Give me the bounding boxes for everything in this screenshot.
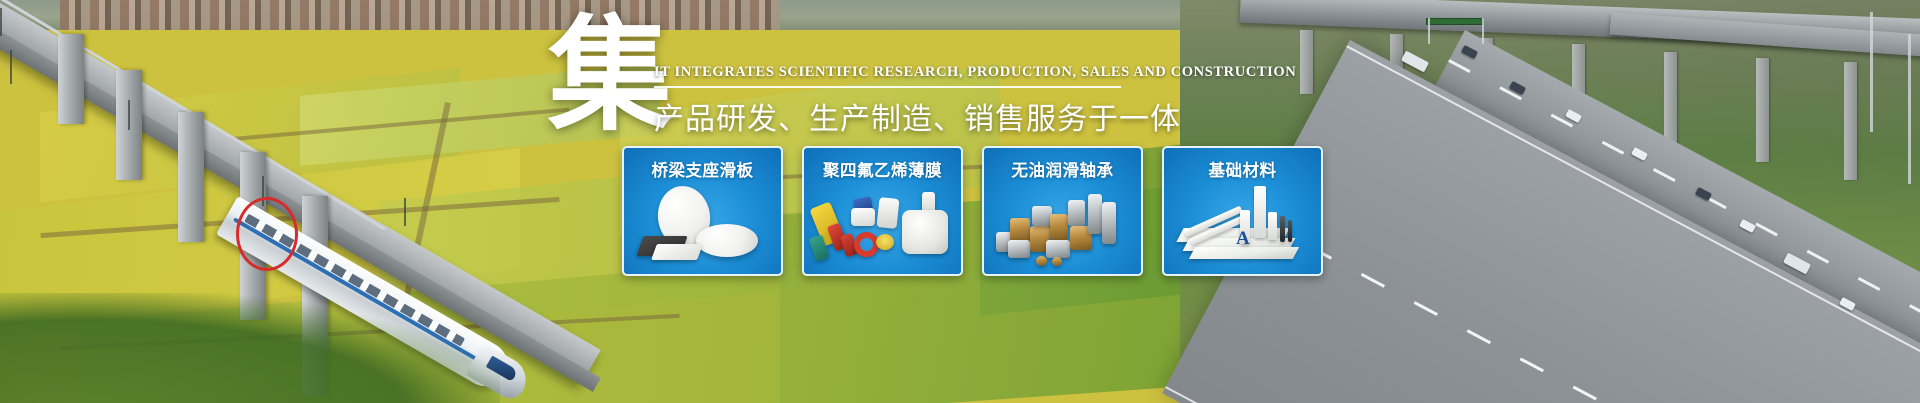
product-card-base-material[interactable]: 基础材料 A — [1162, 146, 1323, 276]
headline-block: 集 IT INTEGRATES SCIENTIFIC RESEARCH, PRO… — [548, 14, 1168, 134]
product-card-title: 桥梁支座滑板 — [624, 157, 781, 181]
product-card-row: 桥梁支座滑板 聚四氟乙烯薄膜 — [622, 146, 1323, 276]
headline-divider — [654, 86, 1121, 88]
ptfe-film-rolls-photo — [804, 184, 961, 270]
base-material-sheets-rods-photo: A — [1164, 184, 1321, 270]
product-card-oil-free-bearing[interactable]: 无油润滑轴承 — [982, 146, 1143, 276]
foreground-grass — [0, 293, 500, 403]
brand-letter-mark: A — [1236, 228, 1250, 250]
product-card-title: 基础材料 — [1164, 157, 1321, 181]
headline-english: IT INTEGRATES SCIENTIFIC RESEARCH, PRODU… — [654, 64, 1296, 81]
headline-chinese: 产品研发、生产制造、销售服务于一体 — [654, 94, 1181, 138]
product-card-title: 聚四氟乙烯薄膜 — [804, 157, 961, 181]
oil-free-lubricated-bearings-photo — [984, 184, 1141, 270]
product-card-title: 无油润滑轴承 — [984, 157, 1141, 181]
bridge-bearing-slide-plate-photo — [624, 184, 781, 270]
hero-banner: 集 IT INTEGRATES SCIENTIFIC RESEARCH, PRO… — [0, 0, 1920, 403]
product-card-ptfe-film[interactable]: 聚四氟乙烯薄膜 — [802, 146, 963, 276]
product-card-bridge-bearing-slide-plate[interactable]: 桥梁支座滑板 — [622, 146, 783, 276]
